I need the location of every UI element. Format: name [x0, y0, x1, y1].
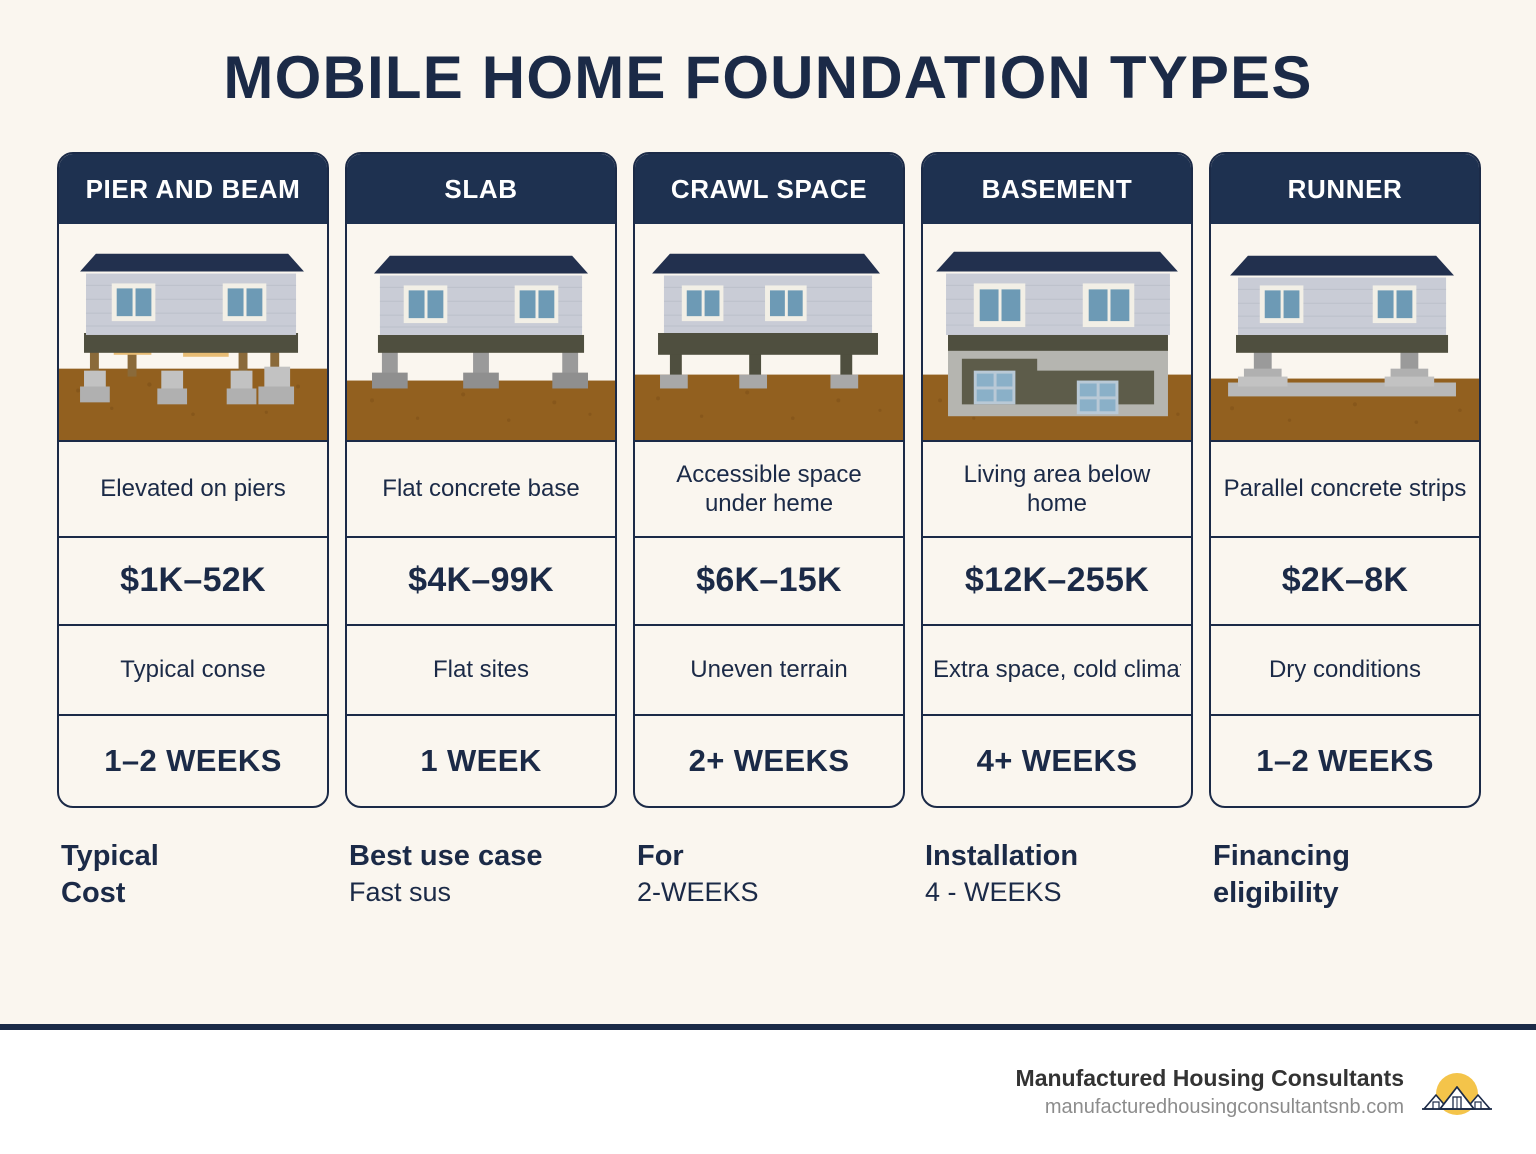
three-houses-sun-logo — [1420, 1061, 1494, 1123]
caption-line-1: Installation — [925, 838, 1193, 875]
card-timeline: 1 WEEK — [347, 716, 615, 806]
card-description: Elevated on piers — [59, 442, 327, 538]
card-cost: $2K–8K — [1211, 538, 1479, 626]
card-description: Parallel concrete strips — [1211, 442, 1479, 538]
crawl-space-house-diagram — [635, 224, 903, 442]
infographic-poster: MOBILE HOME FOUNDATION TYPES PIER AND BE… — [0, 0, 1536, 1024]
card-header-label: PIER AND BEAM — [59, 154, 327, 224]
caption-line-1: Financing eligibility — [1213, 838, 1481, 912]
card-cost: $12K–255K — [923, 538, 1191, 626]
page-title: MOBILE HOME FOUNDATION TYPES — [0, 48, 1536, 108]
caption-typical-cost: Typical Cost — [57, 838, 329, 912]
card-description: Living area below home — [923, 442, 1191, 538]
card-use-case: Uneven terrain — [635, 626, 903, 716]
footer-company-name: Manufactured Housing Consultants — [1016, 1063, 1404, 1094]
foundation-card-pier-and-beam[interactable]: PIER AND BEAM — [57, 152, 329, 808]
card-use-case: Extra space, cold climates — [923, 626, 1191, 716]
card-header-label: RUNNER — [1211, 154, 1479, 224]
caption-financing-eligibility: Financing eligibility — [1209, 838, 1481, 912]
foundation-card-crawl-space[interactable]: CRAWL SPACE — [633, 152, 905, 808]
pier-and-beam-house-diagram — [59, 224, 327, 442]
caption-line-1: For — [637, 838, 905, 875]
card-timeline: 2+ WEEKS — [635, 716, 903, 806]
card-description: Flat concrete base — [347, 442, 615, 538]
card-timeline: 1–2 WEEKS — [59, 716, 327, 806]
caption-line-1: Typical Cost — [61, 838, 329, 912]
bottom-captions-row: Typical Cost Best use case Fast sus For … — [57, 838, 1481, 912]
card-cost: $1K–52K — [59, 538, 327, 626]
basement-house-diagram — [923, 224, 1191, 442]
card-use-case: Typical conse — [59, 626, 327, 716]
caption-line-2: 2-WEEKS — [637, 875, 905, 910]
footer-bar: Manufactured Housing Consultants manufac… — [0, 1030, 1536, 1154]
caption-line-2: Fast sus — [349, 875, 617, 910]
slab-house-diagram — [347, 224, 615, 442]
card-use-case: Flat sites — [347, 626, 615, 716]
caption-for: For 2-WEEKS — [633, 838, 905, 912]
foundation-card-runner[interactable]: RUNNER — [1209, 152, 1481, 808]
caption-installation: Installation 4 - WEEKS — [921, 838, 1193, 912]
card-header-label: SLAB — [347, 154, 615, 224]
foundation-card-slab[interactable]: SLAB — [345, 152, 617, 808]
card-timeline: 1–2 WEEKS — [1211, 716, 1479, 806]
runner-house-diagram — [1211, 224, 1479, 442]
footer-text-block: Manufactured Housing Consultants manufac… — [1016, 1063, 1404, 1121]
card-header-label: BASEMENT — [923, 154, 1191, 224]
foundation-cards-row: PIER AND BEAM — [57, 152, 1481, 808]
card-timeline: 4+ WEEKS — [923, 716, 1191, 806]
caption-line-1: Best use case — [349, 838, 617, 875]
caption-best-use-case: Best use case Fast sus — [345, 838, 617, 912]
footer-website-url[interactable]: manufacturedhousingconsultantsnb.com — [1016, 1094, 1404, 1121]
foundation-card-basement[interactable]: BASEMENT — [921, 152, 1193, 808]
caption-line-2: 4 - WEEKS — [925, 875, 1193, 910]
card-description: Accessible space under heme — [635, 442, 903, 538]
card-cost: $4K–99K — [347, 538, 615, 626]
card-use-case: Dry conditions — [1211, 626, 1479, 716]
card-cost: $6K–15K — [635, 538, 903, 626]
card-header-label: CRAWL SPACE — [635, 154, 903, 224]
